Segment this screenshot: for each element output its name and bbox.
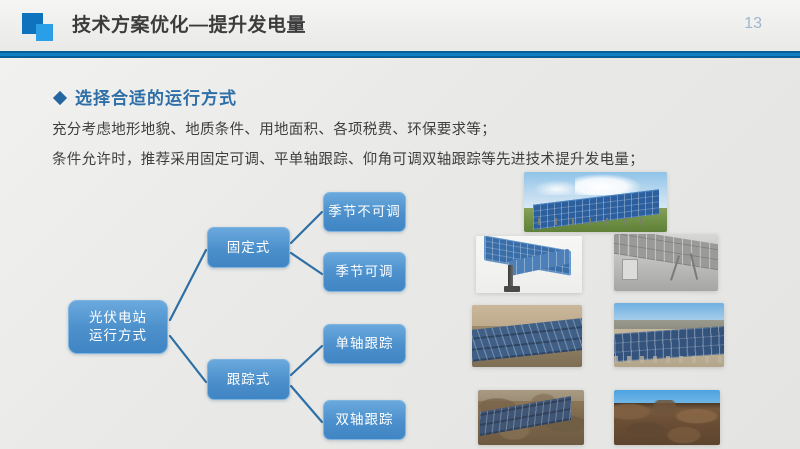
photo-tracker-base <box>504 286 520 292</box>
photo-hillside-pv-array <box>478 390 584 445</box>
photo-desert-pv-array <box>472 305 582 367</box>
photo-rocky-terrain-site <box>614 390 720 445</box>
photo-tracker-farm-blue-sky <box>614 303 724 367</box>
photo-tracker-pole <box>508 265 513 289</box>
photo-gray-mounting-structure <box>614 234 718 291</box>
photo-collage <box>0 0 800 449</box>
photo-cloud <box>533 180 582 194</box>
slide: 技术方案优化—提升发电量 13 选择合适的运行方式 充分考虑地形地貌、地质条件、… <box>0 0 800 449</box>
photo-row-gaps <box>614 356 724 364</box>
photo-rocks <box>614 400 720 445</box>
photo-inverter-box <box>622 259 638 280</box>
photo-mounting-legs <box>538 218 652 225</box>
photo-fixed-tilt-array-in-field <box>524 172 667 232</box>
photo-single-pole-tracker <box>476 236 582 293</box>
